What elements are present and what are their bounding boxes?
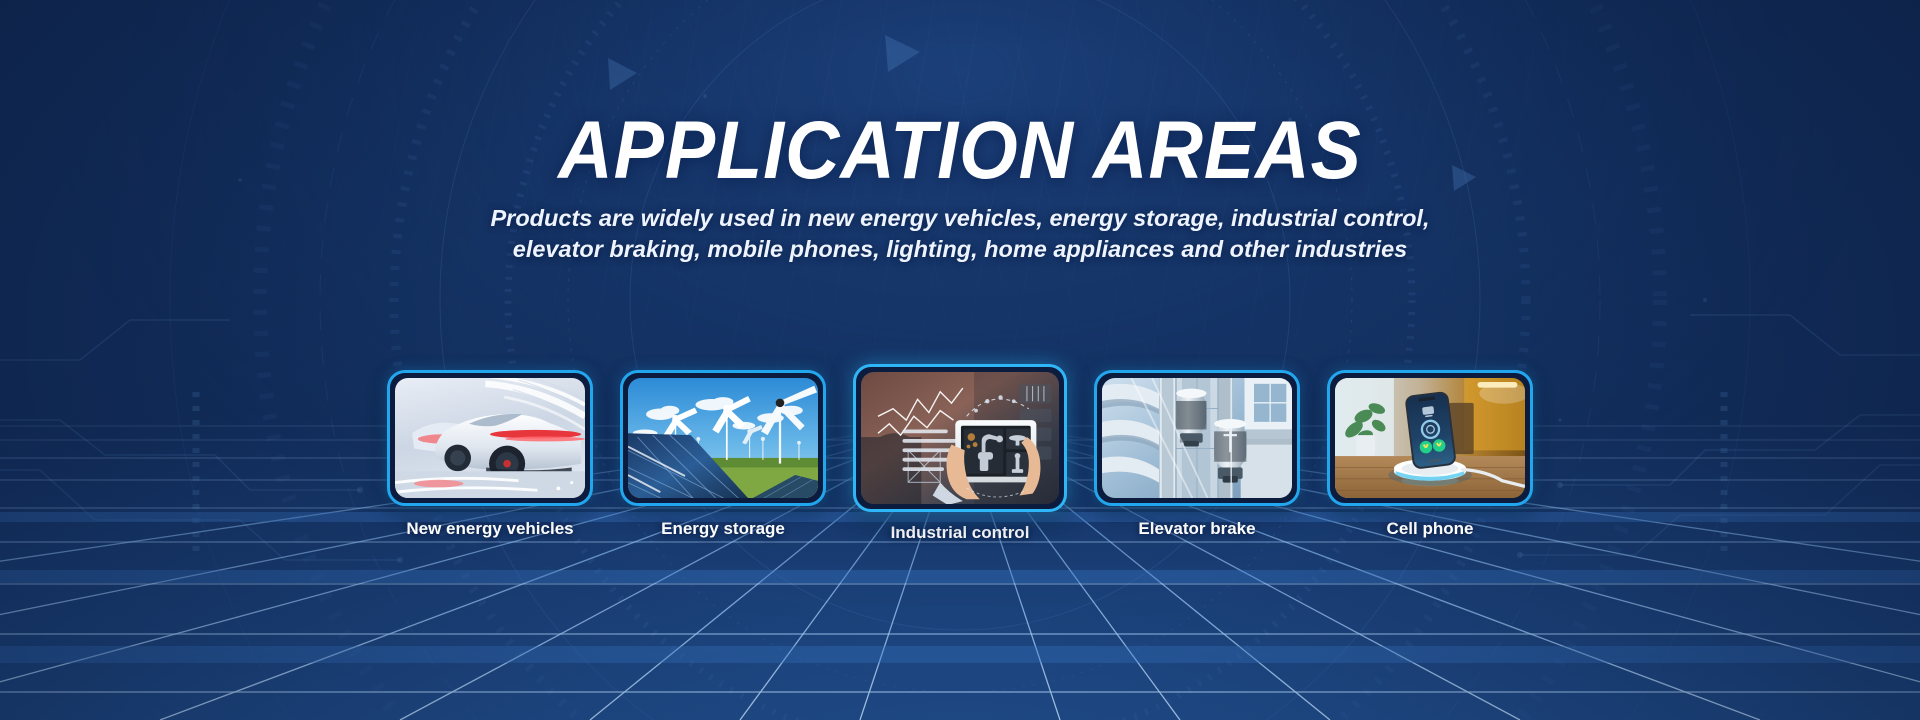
- application-areas-banner: APPLICATION AREAS Products are widely us…: [0, 0, 1920, 720]
- card-frame[interactable]: [853, 364, 1067, 512]
- application-card-energy-storage[interactable]: Energy storage: [620, 370, 826, 539]
- card-frame[interactable]: [1094, 370, 1300, 506]
- solar-panels-wind-turbines-image: [628, 378, 818, 498]
- application-card-new-energy-vehicles[interactable]: New energy vehicles: [387, 370, 593, 539]
- card-label: Cell phone: [1387, 519, 1474, 539]
- glass-elevators-atrium-image: [1102, 378, 1292, 498]
- card-label: Energy storage: [661, 519, 785, 539]
- subtitle-line-2: elevator braking, mobile phones, lightin…: [460, 234, 1460, 265]
- card-frame[interactable]: [387, 370, 593, 506]
- page-subtitle: Products are widely used in new energy v…: [460, 203, 1460, 266]
- subtitle-line-1: Products are widely used in new energy v…: [460, 203, 1460, 234]
- tablet-robot-arm-factory-image: [861, 372, 1059, 504]
- application-card-cell-phone[interactable]: Cell phone: [1327, 370, 1533, 539]
- card-frame[interactable]: [1327, 370, 1533, 506]
- application-card-elevator-brake[interactable]: Elevator brake: [1094, 370, 1300, 539]
- application-cards-row: New energy vehicles: [0, 370, 1920, 543]
- page-title: APPLICATION AREAS: [77, 104, 1843, 198]
- card-label: Industrial control: [891, 523, 1030, 543]
- card-label: Elevator brake: [1138, 519, 1255, 539]
- smartphone-wireless-charger-image: [1335, 378, 1525, 498]
- white-sports-car-speeding-image: [395, 378, 585, 498]
- application-card-industrial-control[interactable]: Industrial control: [853, 370, 1067, 543]
- card-frame[interactable]: [620, 370, 826, 506]
- card-label: New energy vehicles: [406, 519, 573, 539]
